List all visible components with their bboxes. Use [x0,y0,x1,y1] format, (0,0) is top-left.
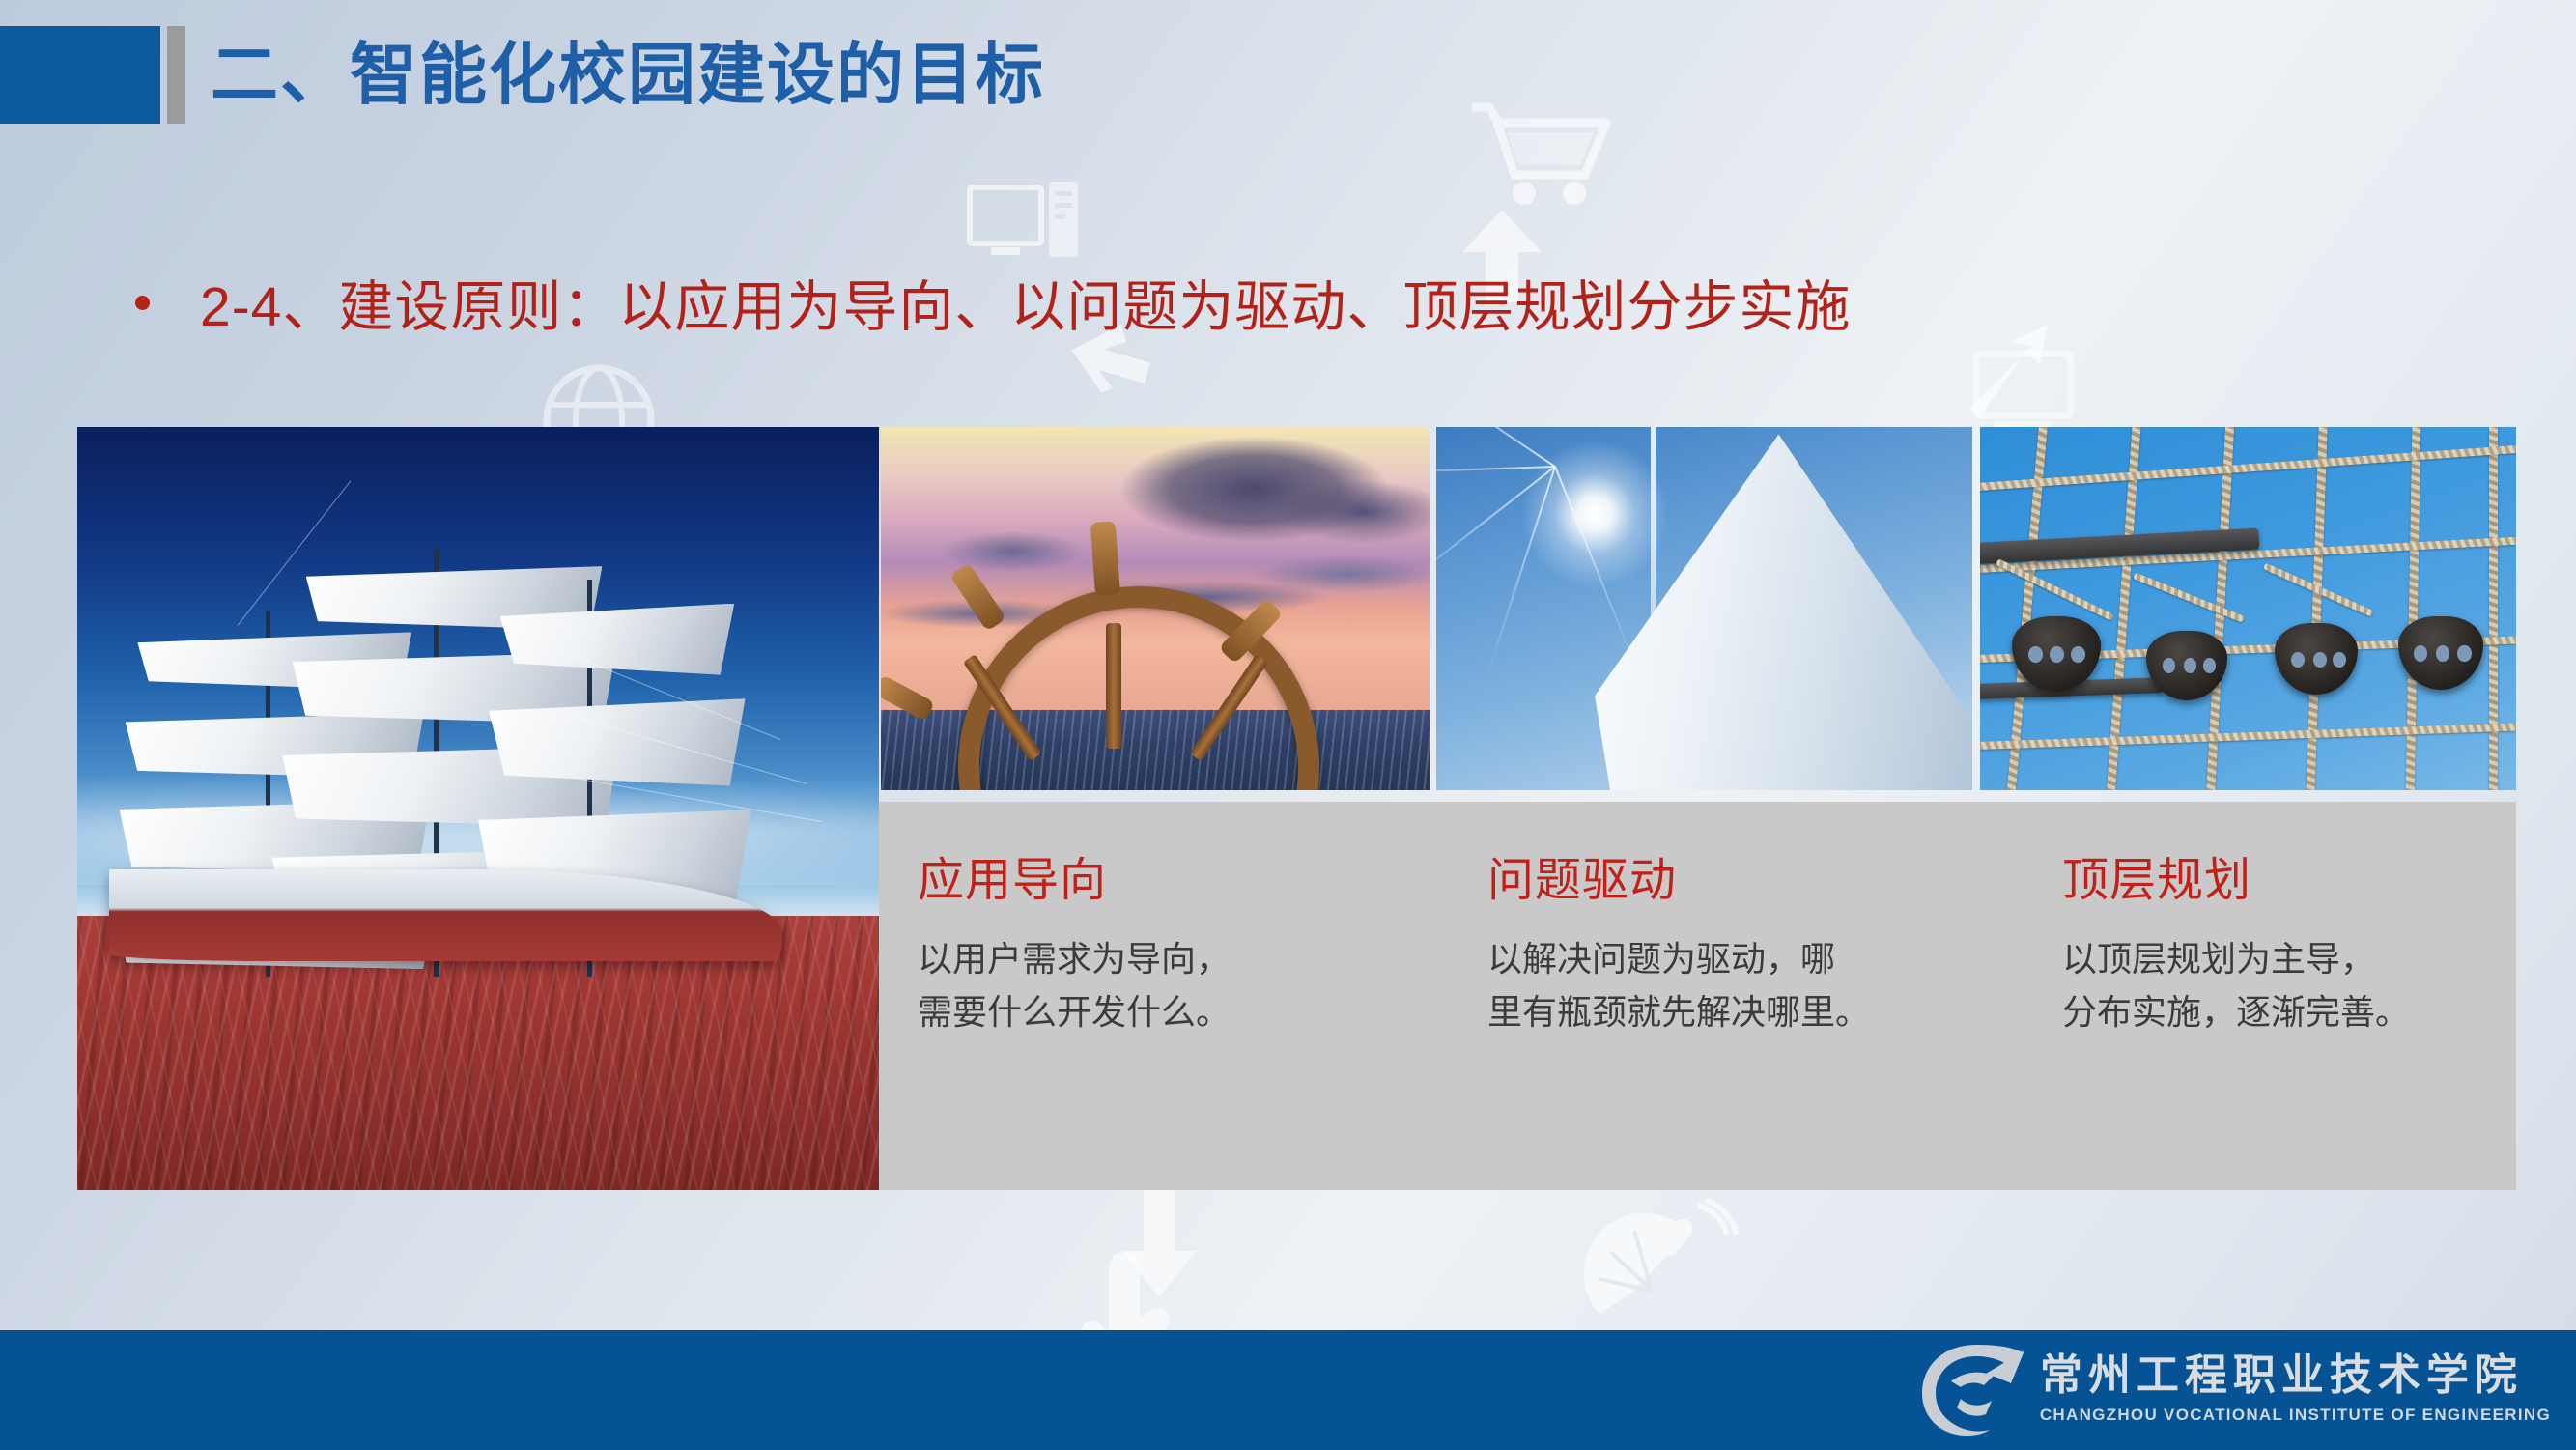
bullet-text: 2-4、建设原则：以应用为导向、以问题为驱动、顶层规划分步实施 [200,263,1851,342]
arrow-up-right-icon [1951,319,2057,425]
principle-title: 顶层规划 [2062,858,2516,904]
tall-ship-photo [77,427,879,1190]
principle-column-1: 应用导向 以用户需求为导向， 需要什么开发什么。 [918,858,1372,1038]
principle-title: 问题驱动 [1487,858,1999,904]
bullet-dot-icon [135,296,150,310]
institution-name-en: CHANGZHOU VOCATIONAL INSTITUTE OF ENGINE… [2040,1406,2551,1425]
page-title: 二、智能化校园建设的目标 [211,28,1045,121]
tablet-icon [1970,348,2077,435]
principle-line-1: 以解决问题为驱动，哪 [1487,933,1999,986]
principle-line-1: 以用户需求为导向， [918,933,1372,986]
satellite-dish-icon [1584,1198,1739,1343]
bullet-row: 2-4、建设原则：以应用为导向、以问题为驱动、顶层规划分步实施 [135,263,1851,342]
principle-title: 应用导向 [918,858,1372,904]
header-accent-block [0,26,160,124]
slide-canvas: 二、智能化校园建设的目标 2-4、建设原则：以应用为导向、以问题为驱动、顶层规划… [0,0,2576,1450]
principle-line-2: 分布实施，逐渐完善。 [2062,986,2516,1039]
sail-photo [1436,427,1972,790]
rigging-blocks-photo [1980,427,2516,790]
principle-column-2: 问题驱动 以解决问题为驱动，哪 里有瓶颈就先解决哪里。 [1487,858,1999,1038]
principle-line-2: 需要什么开发什么。 [918,986,1372,1039]
header-gray-bar [167,26,185,124]
institution-name-cn: 常州工程职业技术学院 [2040,1353,2551,1398]
arrow-down-icon [1120,1183,1198,1299]
principle-line-1: 以顶层规划为主导， [2062,933,2516,986]
shopping-cart-icon [1468,101,1613,217]
principle-column-3: 顶层规划 以顶层规划为主导， 分布实施，逐渐完善。 [2062,858,2516,1038]
ships-wheel-photo [881,427,1430,790]
principle-line-2: 里有瓶颈就先解决哪里。 [1487,986,1999,1039]
institution-logo: 常州工程职业技术学院 CHANGZHOU VOCATIONAL INSTITUT… [1918,1339,2551,1439]
school-emblem-icon [1918,1339,2026,1439]
principles-panel: 应用导向 以用户需求为导向， 需要什么开发什么。 问题驱动 以解决问题为驱动，哪… [879,802,2516,1190]
